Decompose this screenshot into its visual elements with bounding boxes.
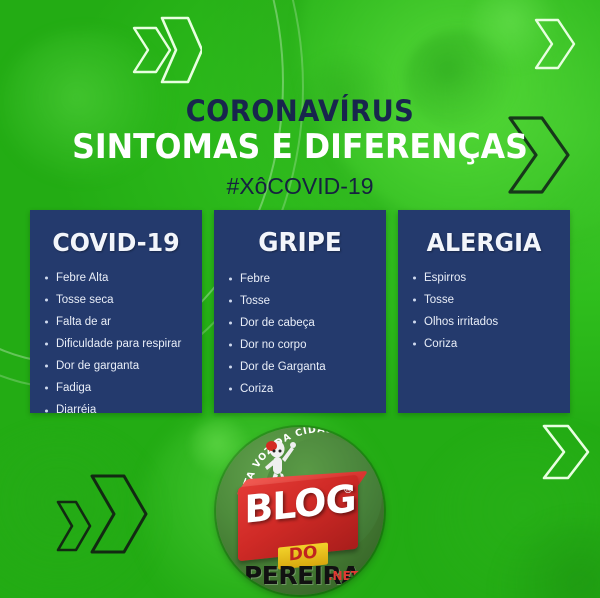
symptom-panels: COVID-19 Febre Alta Tosse seca Falta de … <box>30 210 570 413</box>
bullet-icon <box>413 343 416 346</box>
list-item: Olhos irritados <box>410 311 564 333</box>
bullet-icon <box>45 343 48 346</box>
list-item: Coriza <box>410 333 564 355</box>
bullet-icon <box>413 299 416 302</box>
symptom-label: Coriza <box>424 338 457 350</box>
list-item: Dor de Garganta <box>226 356 380 378</box>
symptom-label: Fadiga <box>56 382 91 394</box>
bullet-icon <box>229 388 232 391</box>
panel-title-alergia: ALERGIA <box>402 228 565 257</box>
list-item: Tosse seca <box>42 289 196 311</box>
list-item: Tosse <box>410 289 564 311</box>
bullet-icon <box>45 299 48 302</box>
list-item: Dor no corpo <box>226 334 380 356</box>
symptom-label: Dor de Garganta <box>240 361 326 373</box>
symptom-label: Tosse seca <box>56 294 114 306</box>
symptom-label: Tosse <box>424 294 454 306</box>
page-subtitle: SINTOMAS E DIFERENÇAS <box>21 129 579 166</box>
bullet-icon <box>45 277 48 280</box>
coronavirus-blob-icon <box>500 520 600 598</box>
symptom-label: Diarréia <box>56 404 96 416</box>
panel-alergia: ALERGIA Espirros Tosse Olhos irritados C… <box>398 210 570 413</box>
list-item: Dificuldade para respirar <box>42 333 196 355</box>
chevron-right-icon <box>52 462 150 554</box>
symptom-list-covid: Febre Alta Tosse seca Falta de ar Dificu… <box>30 267 202 422</box>
bullet-icon <box>45 409 48 412</box>
symptom-list-gripe: Febre Tosse Dor de cabeça Dor no corpo D… <box>214 268 386 400</box>
symptom-label: Tosse <box>240 295 270 307</box>
symptom-label: Dor no corpo <box>240 339 306 351</box>
symptom-label: Febre Alta <box>56 272 108 284</box>
bullet-icon <box>229 366 232 369</box>
symptom-label: Coriza <box>240 383 273 395</box>
panel-title-gripe: GRIPE <box>218 228 381 258</box>
list-item: Diarréia <box>42 399 196 421</box>
symptom-label: Falta de ar <box>56 316 111 328</box>
page-title: CORONAVÍRUS <box>18 96 582 126</box>
chevron-right-icon <box>536 418 596 484</box>
bullet-icon <box>45 365 48 368</box>
list-item: Fadiga <box>42 377 196 399</box>
list-item: Tosse <box>226 290 380 312</box>
symptom-label: Dor de garganta <box>56 360 139 372</box>
list-item: Espirros <box>410 267 564 289</box>
logo-tld-text: .NET <box>328 569 359 583</box>
panel-gripe: GRIPE Febre Tosse Dor de cabeça Dor no c… <box>214 210 386 413</box>
bullet-icon <box>229 278 232 281</box>
panel-covid: COVID-19 Febre Alta Tosse seca Falta de … <box>30 210 202 413</box>
symptom-list-alergia: Espirros Tosse Olhos irritados Coriza <box>398 267 570 355</box>
bullet-icon <box>229 322 232 325</box>
list-item: Febre Alta <box>42 267 196 289</box>
coronavirus-blob-icon <box>0 430 160 598</box>
bullet-icon <box>45 321 48 324</box>
coronavirus-blob-icon <box>470 0 560 68</box>
symptom-label: Febre <box>240 273 270 285</box>
bullet-icon <box>229 300 232 303</box>
symptom-label: Olhos irritados <box>424 316 498 328</box>
list-item: Febre <box>226 268 380 290</box>
list-item: Falta de ar <box>42 311 196 333</box>
bullet-icon <box>229 344 232 347</box>
bullet-icon <box>413 277 416 280</box>
chevron-right-icon <box>528 14 584 74</box>
headline-block: CORONAVÍRUS SINTOMAS E DIFERENÇAS #XôCOV… <box>0 96 600 200</box>
bullet-icon <box>413 321 416 324</box>
symptom-label: Espirros <box>424 272 466 284</box>
symptom-label: Dificuldade para respirar <box>56 338 181 350</box>
coronavirus-blob-icon <box>420 430 600 598</box>
poster-canvas: CORONAVÍRUS SINTOMAS E DIFERENÇAS #XôCOV… <box>0 0 600 598</box>
blog-logo[interactable]: O PORTA VOZ DA CIDADE! BLOG ® <box>216 427 384 595</box>
panel-title-covid: COVID-19 <box>34 228 197 257</box>
list-item: Coriza <box>226 378 380 400</box>
registered-mark-icon: ® <box>343 485 353 496</box>
hashtag-label: #XôCOVID-19 <box>0 173 600 200</box>
chevron-right-icon <box>112 14 202 86</box>
list-item: Dor de cabeça <box>226 312 380 334</box>
bullet-icon <box>45 387 48 390</box>
list-item: Dor de garganta <box>42 355 196 377</box>
symptom-label: Dor de cabeça <box>240 317 315 329</box>
